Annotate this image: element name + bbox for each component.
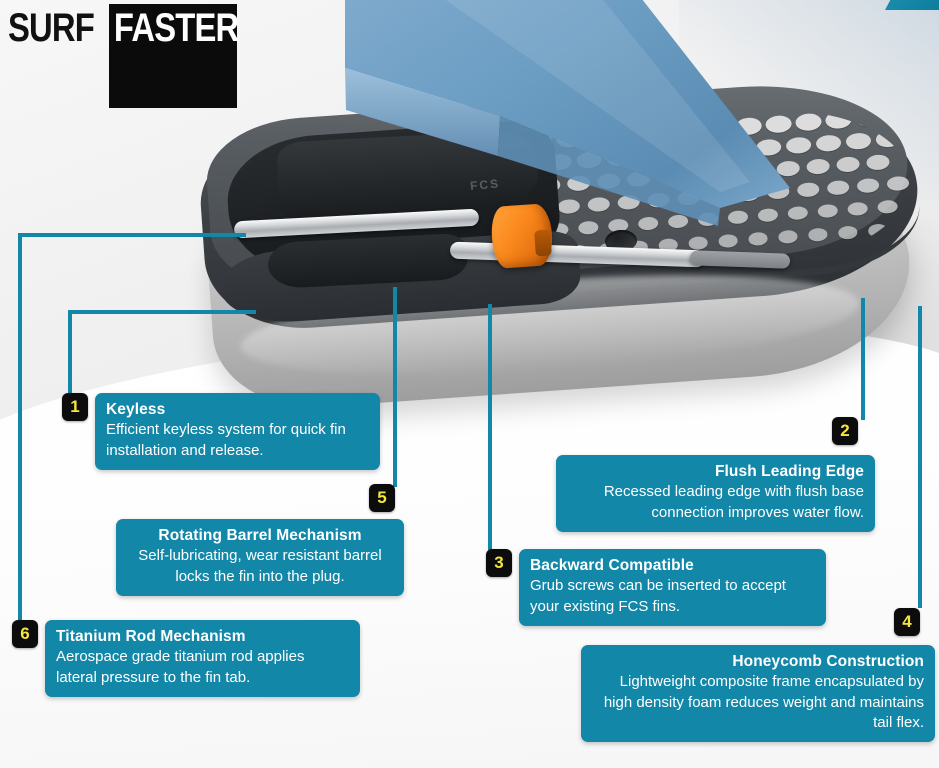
callout-4-body: Lightweight composite frame encapsulated… [592,672,924,732]
callout-1-box: Keyless Efficient keyless system for qui… [95,393,380,470]
leader-line-6-horizontal [18,233,246,237]
leader-line-1-horizontal [68,310,256,314]
callout-2-title: Flush Leading Edge [567,462,864,482]
callout-5-badge: 5 [369,484,395,512]
callout-1-title: Keyless [106,400,369,420]
surfboard-fin [250,0,850,250]
callout-4-title: Honeycomb Construction [592,652,924,672]
leader-line-4 [918,306,922,608]
leader-line-3 [488,304,492,550]
callout-5-box: Rotating Barrel Mechanism Self-lubricati… [116,519,404,596]
callout-3-badge: 3 [486,549,512,577]
product-illustration: FCS [150,0,939,450]
callout-3-box: Backward Compatible Grub screws can be i… [519,549,826,626]
callout-2[interactable]: Flush Leading Edge Recessed leading edge… [556,455,875,532]
callout-6-title: Titanium Rod Mechanism [56,627,349,647]
callout-5[interactable]: Rotating Barrel Mechanism Self-lubricati… [116,519,404,596]
callout-6-badge: 6 [12,620,38,648]
brand-word-surf: SURF [8,4,94,48]
leader-line-6-vertical [18,233,22,621]
infographic-canvas: SURF FASTER FCS [0,0,939,768]
callout-4[interactable]: Honeycomb Construction Lightweight compo… [581,645,935,742]
callout-2-badge: 2 [832,417,858,445]
callout-3[interactable]: 3 Backward Compatible Grub screws can be… [486,549,826,626]
callout-6-box: Titanium Rod Mechanism Aerospace grade t… [45,620,360,697]
callout-6[interactable]: 6 Titanium Rod Mechanism Aerospace grade… [12,620,360,697]
callout-3-body: Grub screws can be inserted to accept yo… [530,576,815,616]
callout-5-title: Rotating Barrel Mechanism [127,526,393,546]
callout-4-box: Honeycomb Construction Lightweight compo… [581,645,935,742]
leader-line-5 [393,287,397,487]
callout-2-body: Recessed leading edge with flush base co… [567,482,864,522]
callout-1-body: Efficient keyless system for quick fin i… [106,420,369,460]
callout-2-box: Flush Leading Edge Recessed leading edge… [556,455,875,532]
callout-1[interactable]: 1 Keyless Efficient keyless system for q… [62,393,380,470]
callout-4-badge: 4 [894,608,920,636]
callout-1-badge: 1 [62,393,88,421]
callout-3-title: Backward Compatible [530,556,815,576]
callout-5-body: Self-lubricating, wear resistant barrel … [127,546,393,586]
callout-6-body: Aerospace grade titanium rod applies lat… [56,647,349,687]
leader-line-1-vertical [68,310,72,398]
leader-line-2 [861,298,865,420]
